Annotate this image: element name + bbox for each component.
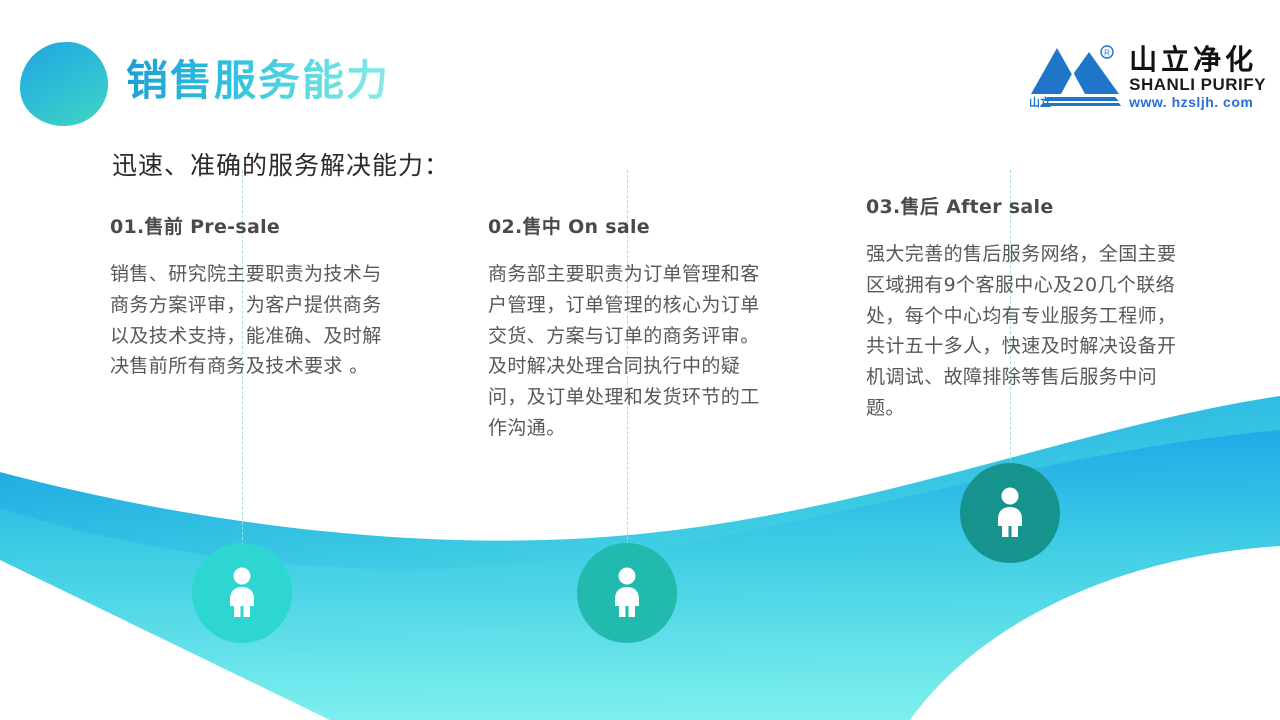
logo-company-en: SHANLI PURIFY — [1129, 76, 1266, 93]
content-column-after-sale: 03.售后 After sale 强大完善的售后服务网络，全国主要区域拥有9个客… — [866, 192, 1186, 424]
person-icon — [222, 565, 262, 621]
title-decorative-blob — [18, 40, 110, 128]
svg-text:R: R — [1104, 49, 1110, 58]
logo-website: www. hzsljh. com — [1129, 95, 1266, 109]
logo-text-block: 山立净化 SHANLI PURIFY www. hzsljh. com — [1129, 42, 1266, 109]
section-subtitle: 迅速、准确的服务解决能力： — [112, 146, 450, 182]
person-icon — [607, 565, 647, 621]
column-heading: 03.售后 After sale — [866, 192, 1186, 219]
column-body-text: 强大完善的售后服务网络，全国主要区域拥有9个客服中心及20几个联络处，每个中心均… — [866, 239, 1186, 424]
page-title: 销售服务能力 — [126, 58, 390, 104]
stage-marker-on-sale[interactable] — [577, 543, 677, 643]
stage-marker-after-sale[interactable] — [960, 463, 1060, 563]
slide-root: 销售服务能力 R 山立 山立净化 SHANLI PURIFY www. hzsl… — [0, 0, 1280, 720]
logo-company-cn: 山立净化 — [1129, 46, 1266, 74]
svg-text:山立: 山立 — [1029, 95, 1051, 109]
column-heading: 01.售前 Pre-sale — [110, 212, 390, 239]
shanli-mountain-logo-icon: R 山立 — [1027, 42, 1123, 110]
stage-marker-pre-sale[interactable] — [192, 543, 292, 643]
content-column-pre-sale: 01.售前 Pre-sale 销售、研究院主要职责为技术与商务方案评审，为客户提… — [110, 212, 390, 382]
column-body-text: 销售、研究院主要职责为技术与商务方案评审，为客户提供商务以及技术支持，能准确、及… — [110, 259, 390, 382]
content-column-on-sale: 02.售中 On sale 商务部主要职责为订单管理和客户管理，订单管理的核心为… — [488, 212, 778, 444]
column-body-text: 商务部主要职责为订单管理和客户管理，订单管理的核心为订单交货、方案与订单的商务评… — [488, 259, 778, 444]
column-heading: 02.售中 On sale — [488, 212, 778, 239]
person-icon — [990, 485, 1030, 541]
company-logo: R 山立 山立净化 SHANLI PURIFY www. hzsljh. com — [1027, 42, 1266, 110]
